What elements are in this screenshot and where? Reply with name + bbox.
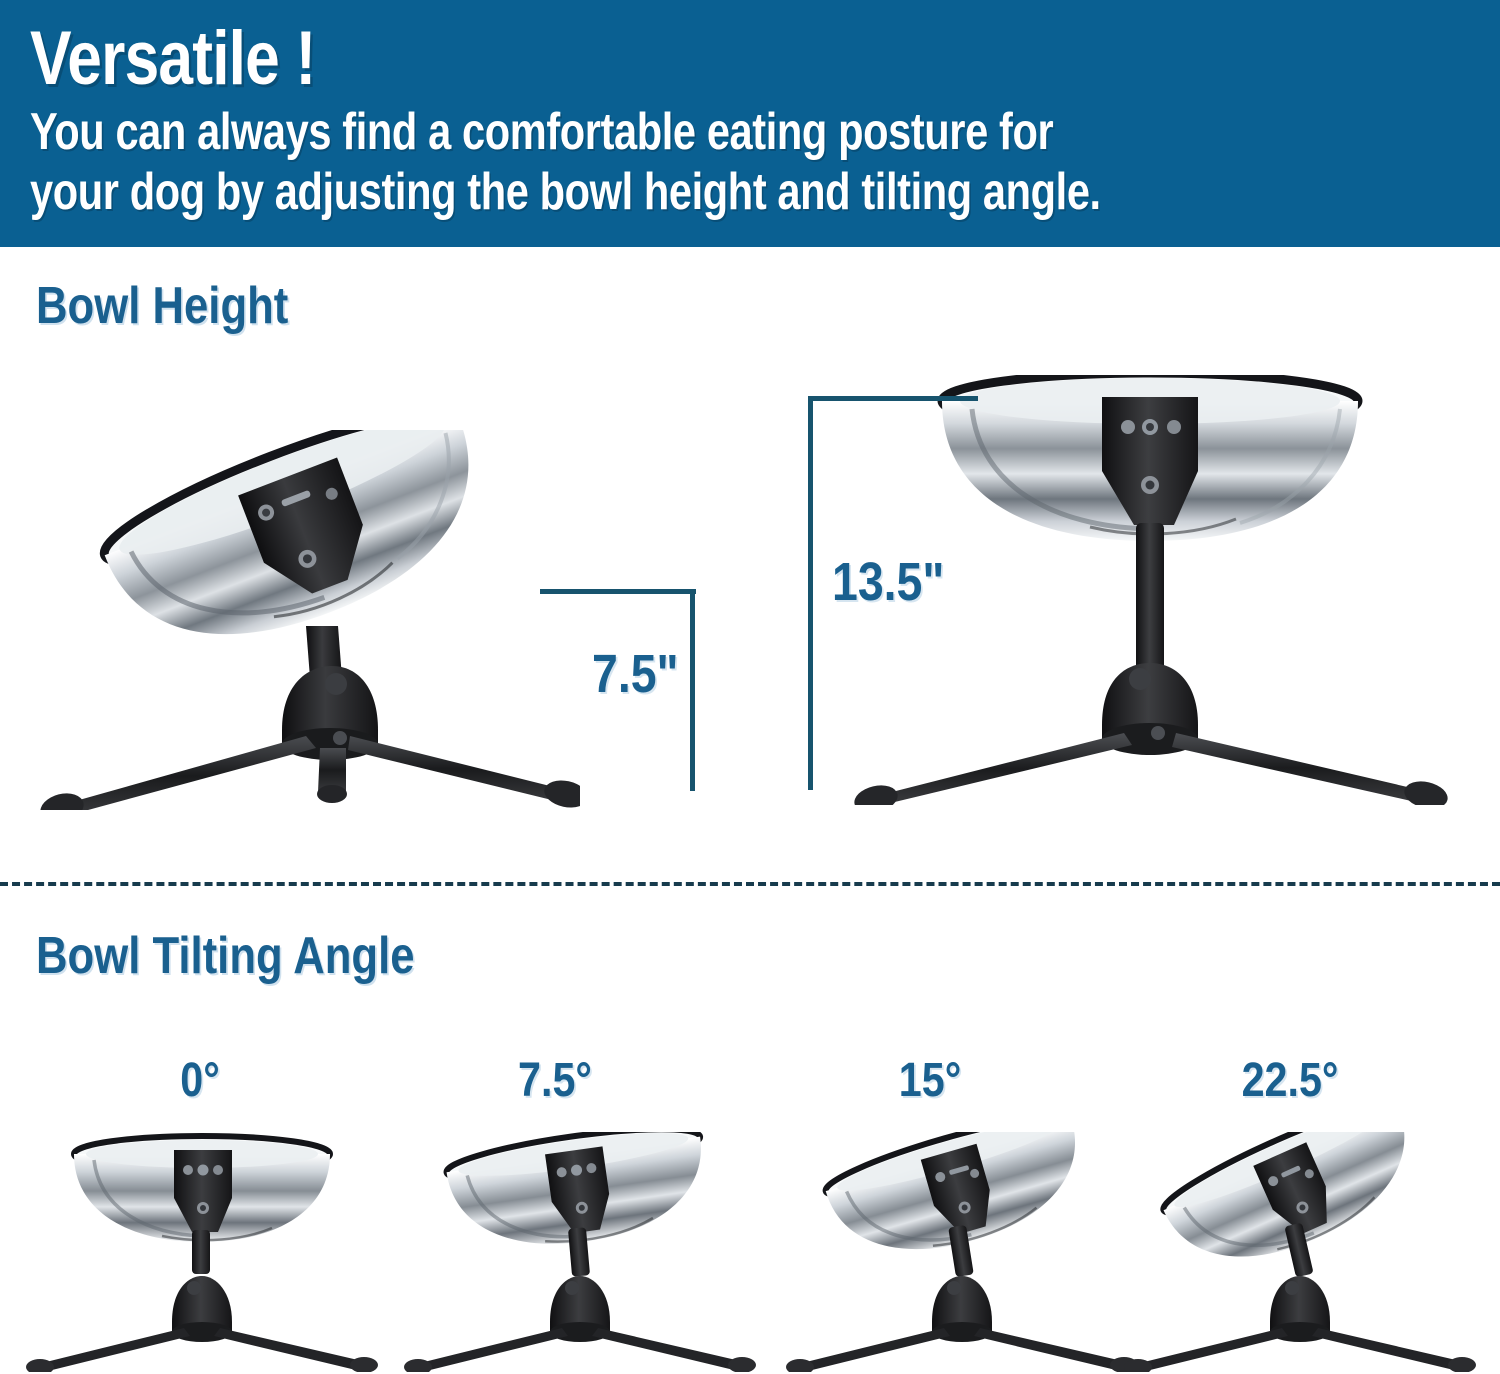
foot-cap-left	[37, 789, 86, 810]
foot-cap-left	[1124, 1359, 1152, 1372]
banner-title: Versatile !	[30, 18, 1214, 100]
dimension-label-7-5-inch: 7.5"	[592, 645, 679, 703]
banner-subtitle-line1: You can always find a comfortable eating…	[30, 104, 1185, 160]
banner-subtitle-line2: your dog by adjusting the bowl height an…	[30, 164, 1185, 220]
dimension-line-horizontal-tall	[808, 396, 978, 401]
dimension-line-horizontal-short	[540, 589, 696, 594]
dimension-line-vertical-short	[690, 589, 695, 791]
foot-cap-left	[852, 781, 901, 805]
center-post	[192, 1230, 210, 1274]
tripod-legs	[37, 736, 580, 810]
product-figure-tilt-15	[782, 1132, 1142, 1372]
angle-label-22-5: 22.5°	[1204, 1055, 1376, 1107]
angle-label-7-5: 7.5°	[469, 1055, 641, 1107]
foot-cap-right	[542, 777, 580, 810]
angle-label-15: 15°	[844, 1055, 1016, 1107]
foot-cap-left	[404, 1359, 432, 1372]
dimension-line-vertical-tall	[808, 396, 813, 790]
product-figure-tilt-0	[22, 1132, 382, 1372]
section-heading-bowl-height: Bowl Height	[36, 278, 288, 334]
foot-cap-left	[786, 1359, 814, 1372]
foot-cap-right	[1402, 777, 1451, 805]
angle-label-0: 0°	[114, 1055, 286, 1107]
section-heading-bowl-tilting-angle: Bowl Tilting Angle	[36, 928, 415, 984]
product-figure-tilt-7-5	[400, 1132, 760, 1372]
extension-pole	[1136, 523, 1164, 671]
product-figure-tilt-22-5	[1120, 1132, 1480, 1372]
header-banner: Versatile ! You can always find a comfor…	[0, 0, 1500, 247]
product-figure-short-stand	[20, 430, 580, 810]
dimension-label-13-5-inch: 13.5"	[832, 553, 944, 611]
foot-cap-center	[317, 785, 347, 803]
dashed-divider-icon	[0, 882, 1500, 886]
foot-cap-left	[26, 1359, 54, 1372]
